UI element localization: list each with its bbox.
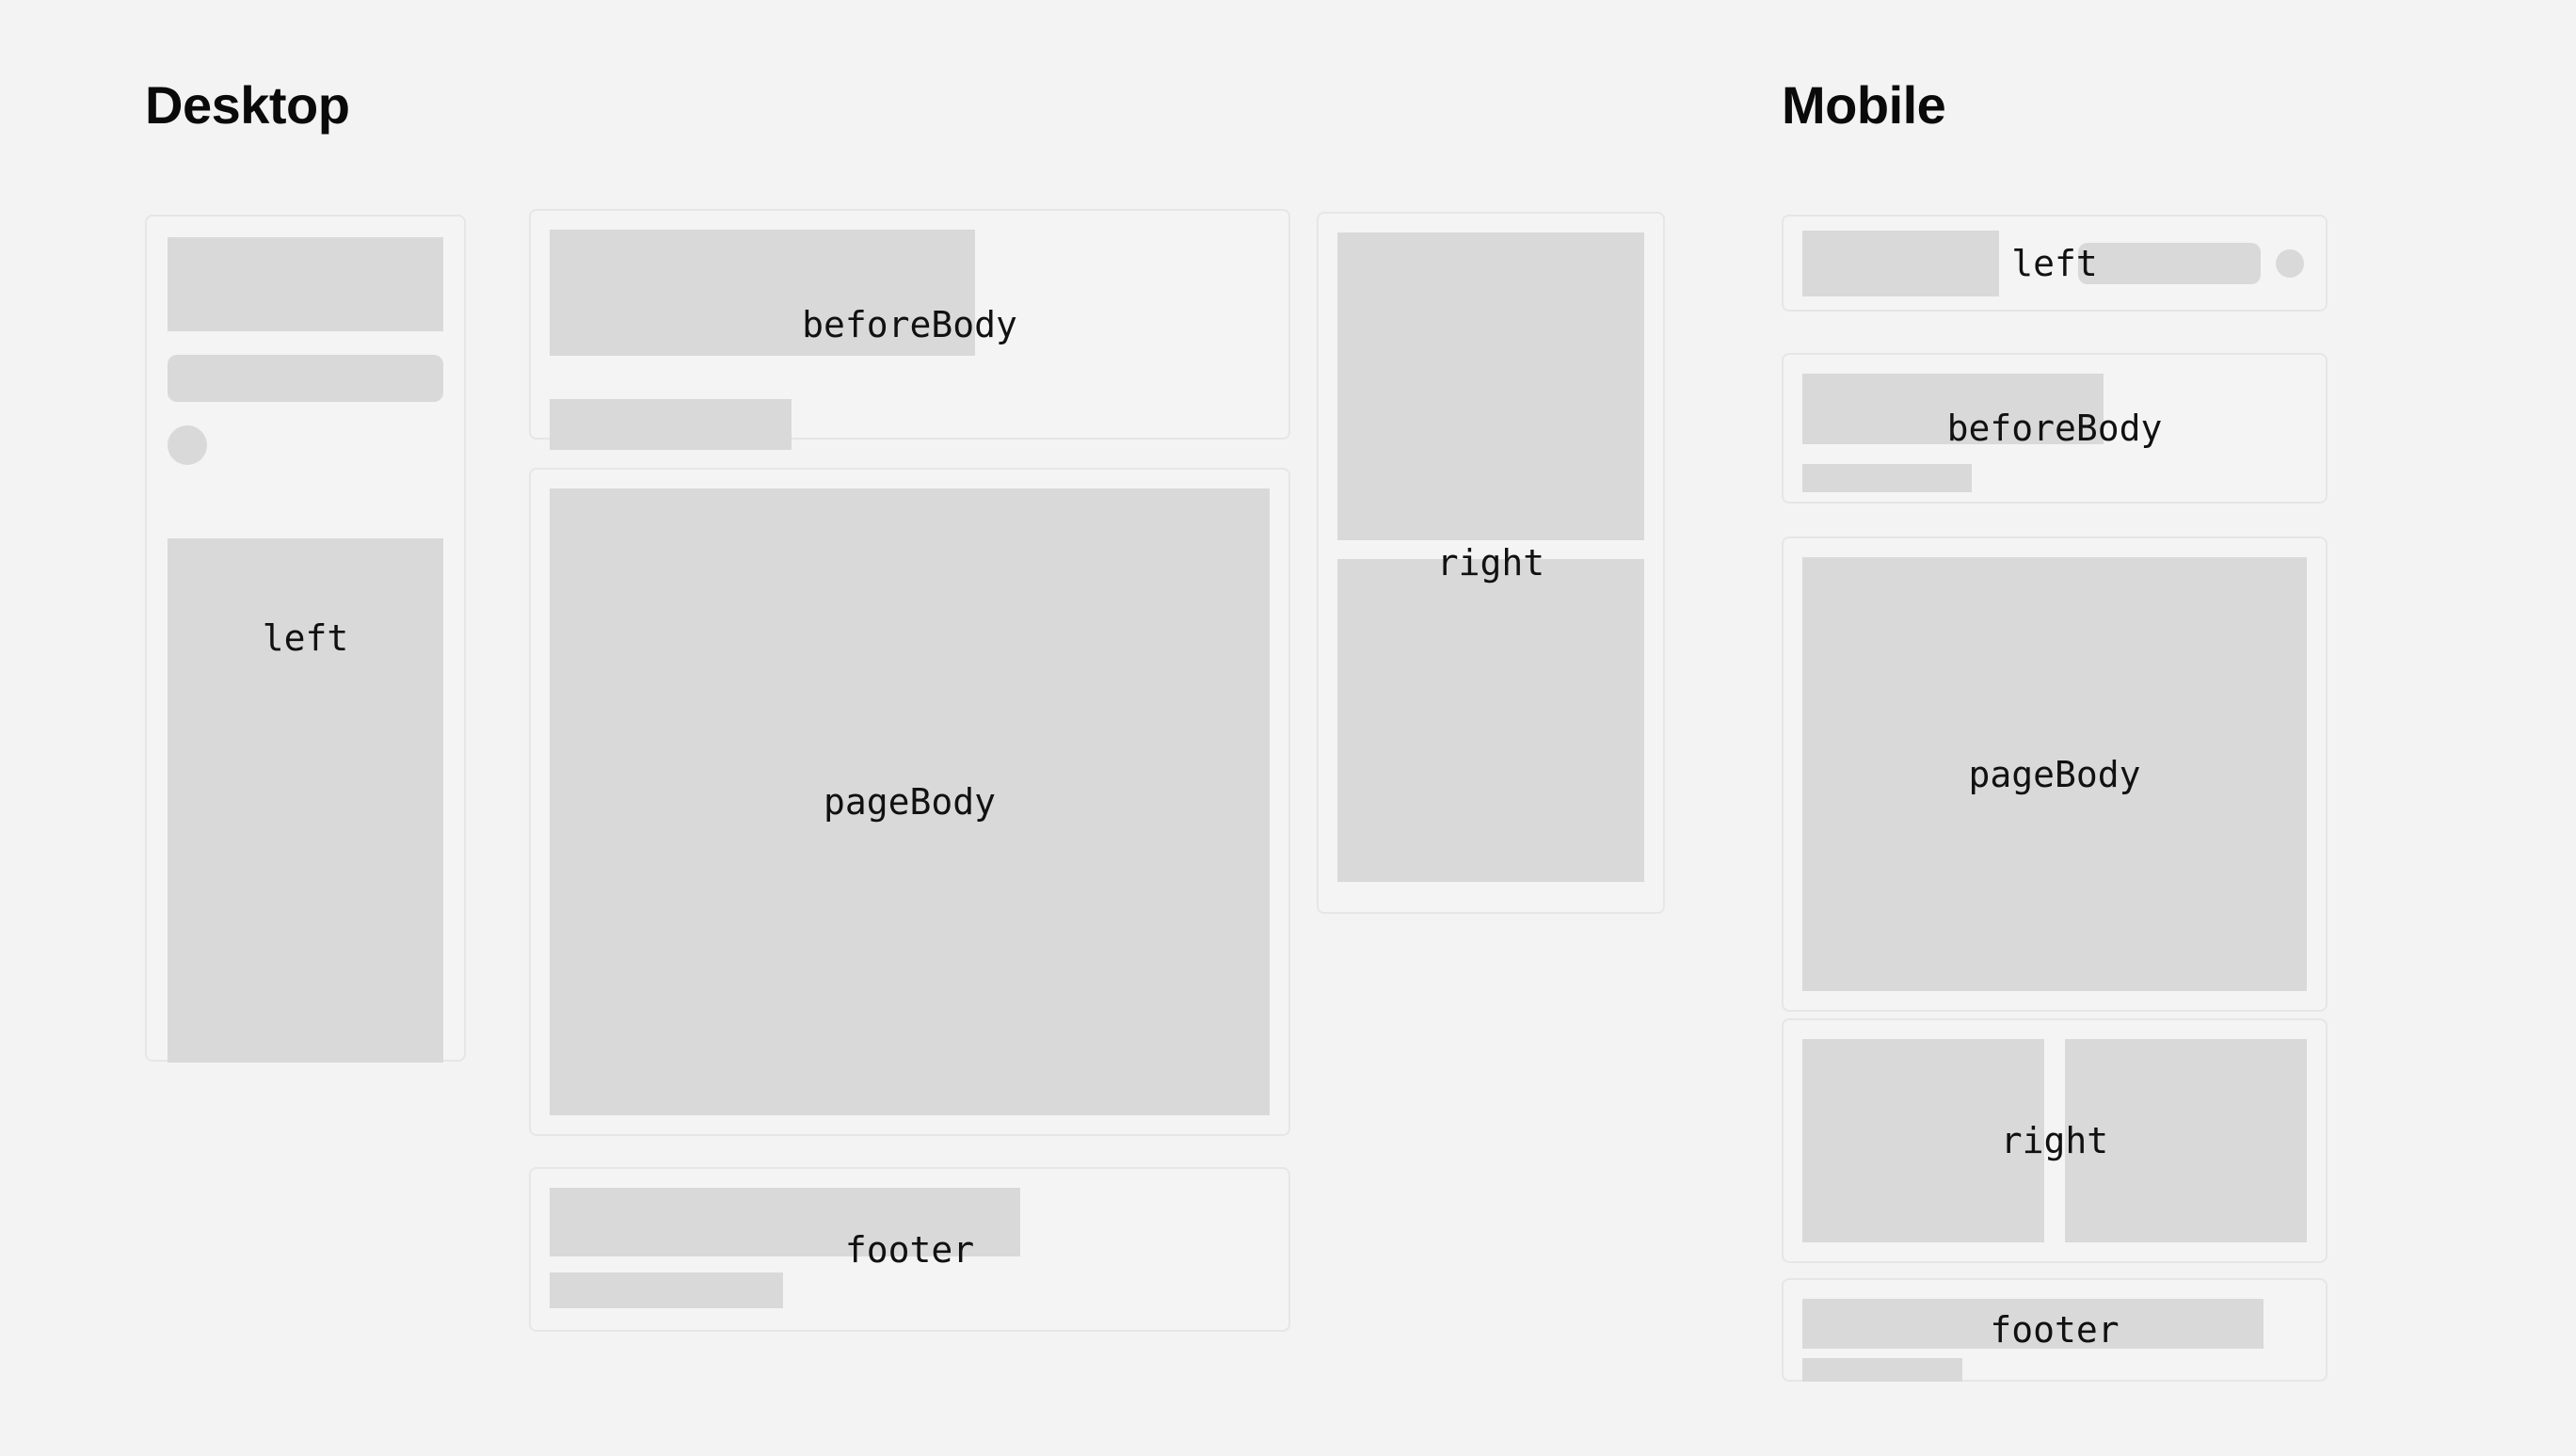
mobile-pagebody-panel[interactable]: pageBody [1782, 536, 2328, 1012]
placeholder-block [550, 1188, 1020, 1256]
desktop-pagebody-panel[interactable]: pageBody [529, 468, 1290, 1136]
placeholder-block [550, 399, 792, 450]
placeholder-block [550, 230, 975, 356]
placeholder-block [1337, 559, 1644, 882]
placeholder-block [2065, 1039, 2307, 1242]
placeholder-block [1802, 374, 2104, 444]
placeholder-block [550, 1272, 783, 1308]
placeholder-block [1802, 557, 2307, 991]
placeholder-block [550, 488, 1270, 1115]
desktop-footer-panel[interactable]: footer [529, 1167, 1290, 1332]
placeholder-block [1802, 1039, 2044, 1242]
mobile-beforebody-panel[interactable]: beforeBody [1782, 353, 2328, 504]
desktop-beforebody-panel[interactable]: beforeBody [529, 209, 1290, 440]
wireframe-canvas: Desktop Mobile left beforeBody pageBody … [0, 0, 2576, 1456]
desktop-sidebar-panel[interactable]: left [145, 215, 466, 1062]
placeholder-pill [2078, 243, 2261, 284]
placeholder-block [1337, 232, 1644, 540]
placeholder-avatar-circle [2276, 249, 2304, 278]
placeholder-pill [168, 355, 443, 402]
placeholder-tall-block [168, 538, 443, 1063]
placeholder-block [1802, 231, 1999, 296]
mobile-footer-panel[interactable]: footer [1782, 1278, 2328, 1382]
placeholder-block [168, 237, 443, 331]
placeholder-avatar-circle [168, 425, 207, 465]
desktop-right-panel[interactable]: right [1317, 212, 1665, 914]
mobile-right-panel[interactable]: right [1782, 1018, 2328, 1263]
placeholder-block [1802, 1299, 2264, 1349]
mobile-left-panel[interactable]: left [1782, 215, 2328, 312]
desktop-section-heading: Desktop [145, 79, 349, 132]
mobile-section-heading: Mobile [1782, 79, 1945, 132]
placeholder-block [1802, 1358, 1962, 1382]
placeholder-block [1802, 464, 1972, 492]
